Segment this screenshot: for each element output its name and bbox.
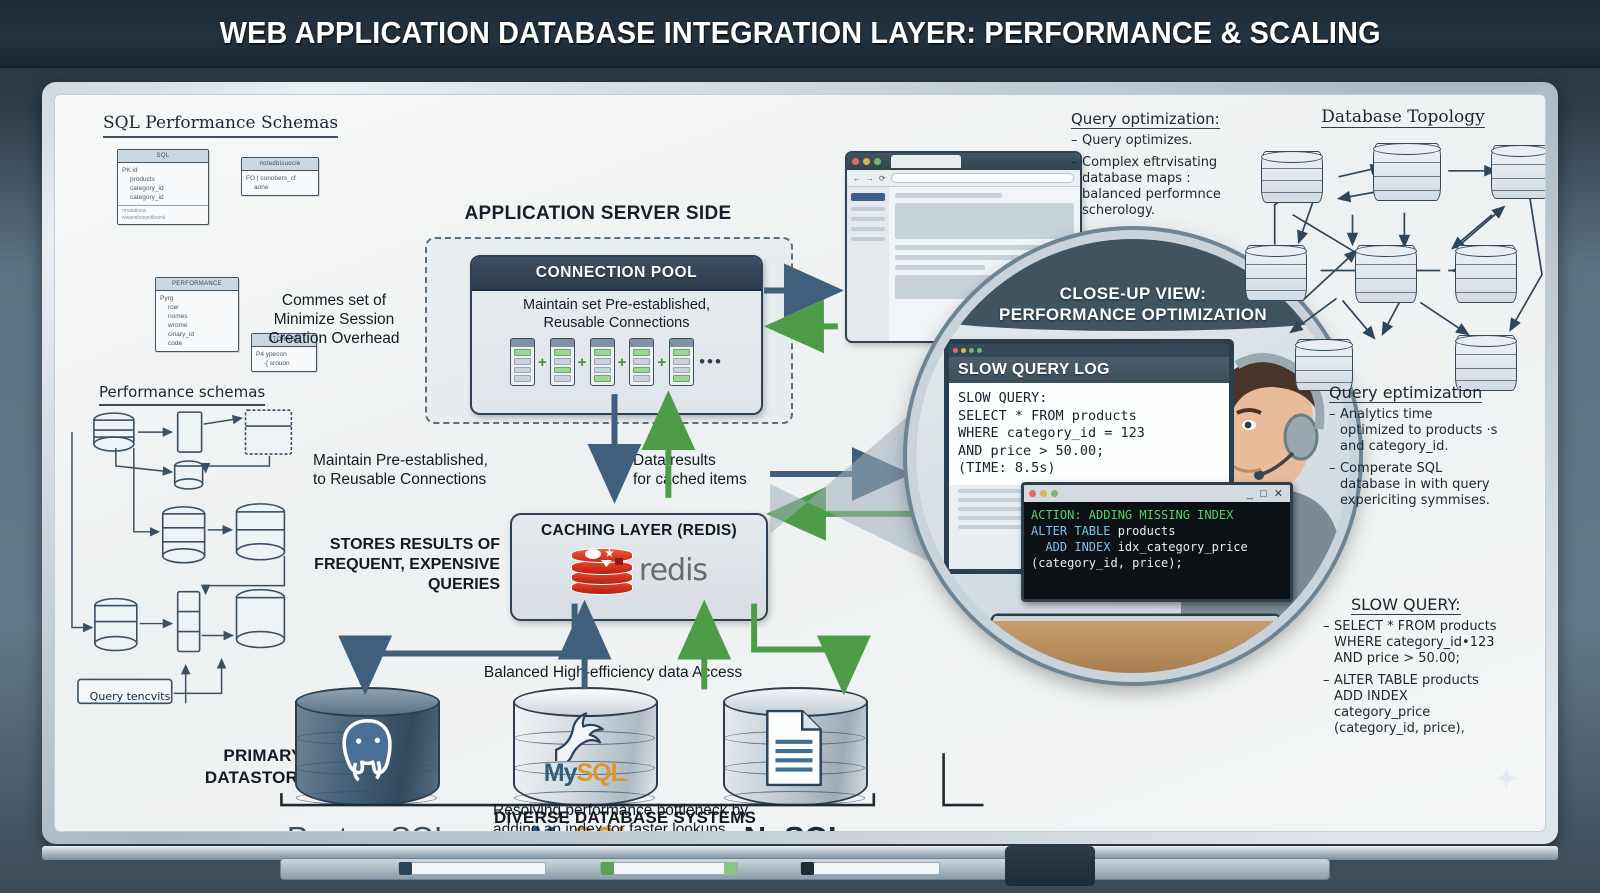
note-list: SELECT * FROM products WHERE category_id… bbox=[1323, 619, 1503, 737]
connection-pool-card: CONNECTION POOL Maintain set Pre-establi… bbox=[470, 255, 763, 415]
er-table-header: notedbisuocie bbox=[242, 158, 318, 171]
marker-green[interactable] bbox=[600, 862, 738, 875]
desk-surface bbox=[916, 621, 1350, 673]
plus-icon: + bbox=[538, 354, 547, 371]
close-icon[interactable] bbox=[852, 158, 859, 165]
maximize-icon[interactable] bbox=[1051, 490, 1058, 497]
note-slow-query: SLOW QUERY: SELECT * FROM products WHERE… bbox=[1323, 595, 1503, 743]
note-heading: Query optimization: bbox=[1071, 110, 1220, 129]
datastore-postgresql: PostgreSQL bbox=[287, 687, 447, 832]
connection-pool-title: CONNECTION POOL bbox=[472, 257, 761, 291]
browser-tab[interactable] bbox=[891, 155, 961, 168]
redis-logo-row: redis bbox=[512, 544, 766, 596]
terminal-keyword: ALTER TABLE bbox=[1031, 524, 1110, 538]
connection-node bbox=[550, 338, 575, 386]
reload-icon[interactable]: ⟳ bbox=[879, 174, 886, 183]
balanced-access-label: Balanced High-efficiency data Access bbox=[433, 663, 793, 682]
log-line: (TIME: 8.5s) bbox=[958, 460, 1056, 476]
slow-query-log-body: SLOW QUERY: SELECT * FROM products WHERE… bbox=[949, 383, 1229, 485]
note-item: Comperate SQL database in with query exp… bbox=[1329, 461, 1499, 509]
connection-node bbox=[629, 338, 654, 386]
window-controls[interactable]: _ □ ✕ bbox=[1247, 487, 1285, 500]
sidebar-item[interactable] bbox=[851, 207, 885, 211]
connection-pool-description: Maintain set Pre-established, Reusable C… bbox=[472, 291, 761, 332]
terminal-keyword: ADD INDEX bbox=[1045, 540, 1110, 554]
sparkle-icon: ✦ bbox=[1494, 762, 1519, 797]
browser-titlebar bbox=[847, 153, 1080, 170]
connection-node bbox=[669, 338, 694, 386]
connection-node bbox=[590, 338, 615, 386]
er-table-sql: SQL PK idproductscategory_idcategory_id … bbox=[117, 149, 209, 225]
stores-results-label: STORES RESULTS OF FREQUENT, EXPENSIVE QU… bbox=[265, 535, 500, 595]
marker-blue[interactable] bbox=[398, 862, 546, 875]
note-item: Complex eftrvisating database maps : bal… bbox=[1071, 155, 1231, 219]
er-table-body: P4 ypecon-[ srouon bbox=[252, 347, 316, 371]
minimize-icon[interactable] bbox=[1040, 490, 1047, 497]
whiteboard-frame: SQL Performance Schemas SQL PK idproduct… bbox=[42, 82, 1558, 844]
database-cylinder-icon: MySQL. bbox=[513, 687, 658, 817]
topology-heading: Database Topology bbox=[1321, 107, 1484, 128]
sidebar-active-item[interactable] bbox=[851, 193, 885, 201]
database-cylinder-icon bbox=[295, 687, 440, 817]
terminal-titlebar: _ □ ✕ bbox=[1024, 485, 1290, 502]
topology-node bbox=[1261, 151, 1323, 203]
er-table-performance: PERFORMANCE Pyrgrownomeswromecinary_idco… bbox=[155, 277, 239, 352]
sidebar-item[interactable] bbox=[851, 227, 885, 231]
connection-node-list: + + + + ••• bbox=[472, 338, 761, 386]
topology-heading-wrap: Database Topology bbox=[1273, 107, 1533, 132]
query-tenants-box: Query tencvits bbox=[83, 684, 177, 708]
topology-node bbox=[1355, 245, 1417, 303]
close-icon[interactable] bbox=[1029, 490, 1036, 497]
status-dot-icon bbox=[977, 348, 982, 353]
plus-icon: + bbox=[657, 354, 666, 371]
note-item: Query optimizes. bbox=[1071, 133, 1231, 149]
terminal-arg: idx_category_price bbox=[1110, 540, 1247, 554]
mysql-dolphin-icon bbox=[539, 705, 633, 761]
connection-node bbox=[510, 338, 535, 386]
monitor-titlebar bbox=[949, 344, 1229, 357]
minimize-icon[interactable] bbox=[863, 158, 870, 165]
note-query-optimization-mid: Query eptimization Analytics time optimi… bbox=[1329, 383, 1499, 515]
maintain-connections-label: Maintain Pre-established, to Reusable Co… bbox=[313, 451, 563, 489]
er-table-footer: rmutationawwarwfoteyctibamk bbox=[118, 205, 208, 224]
caching-layer-card: CACHING LAYER (REDIS) redis bbox=[510, 513, 768, 621]
er-table-body: Pyrgrownomeswromecinary_idcode bbox=[156, 291, 238, 351]
note-item: SELECT * FROM products WHERE category_id… bbox=[1323, 619, 1503, 667]
eraser[interactable] bbox=[1005, 846, 1095, 886]
caching-layer-title: CACHING LAYER (REDIS) bbox=[512, 515, 766, 540]
slow-query-log-title: SLOW QUERY LOG bbox=[949, 357, 1229, 383]
terminal-arg: products bbox=[1110, 524, 1175, 538]
sidebar-item[interactable] bbox=[851, 217, 885, 221]
document-icon bbox=[763, 709, 825, 787]
note-heading: SLOW QUERY: bbox=[1351, 595, 1461, 615]
topology-node bbox=[1455, 245, 1517, 303]
browser-navbar: ← → ⟳ bbox=[847, 170, 1080, 187]
application-server-heading: APPLICATION SERVER SIDE bbox=[448, 203, 748, 225]
maximize-icon[interactable] bbox=[969, 348, 974, 353]
sql-schemas-heading: SQL Performance Schemas bbox=[103, 113, 338, 138]
note-query-optimization-top: Query optimization: Query optimizes. Com… bbox=[1071, 109, 1231, 225]
note-list: Analytics time optimized to products ·s … bbox=[1329, 407, 1499, 509]
maximize-icon[interactable] bbox=[874, 158, 881, 165]
session-overhead-note: Commes set of Minimize Session Creation … bbox=[258, 291, 410, 348]
marker-dark[interactable] bbox=[800, 862, 940, 875]
note-list: Query optimizes. Complex eftrvisating da… bbox=[1071, 133, 1231, 219]
postgresql-elephant-icon bbox=[323, 713, 413, 791]
er-table-body: FO | conobers_cfaone bbox=[242, 171, 318, 195]
log-line: WHERE category_id = 123 bbox=[958, 425, 1145, 441]
plus-icon: + bbox=[578, 354, 587, 371]
performance-schemas-heading: Performance schemas bbox=[99, 383, 265, 406]
page-title: WEB APPLICATION DATABASE INTEGRATION LAY… bbox=[219, 15, 1380, 51]
log-line: SELECT * FROM products bbox=[958, 408, 1137, 424]
address-bar[interactable] bbox=[891, 173, 1074, 183]
redis-wordmark: redis bbox=[639, 553, 707, 588]
back-icon[interactable]: ← bbox=[853, 174, 861, 183]
note-item: Analytics time optimized to products ·s … bbox=[1329, 407, 1499, 455]
terminal-action-line: ACTION: ADDING MISSING INDEX bbox=[1031, 508, 1233, 522]
ellipsis-icon: ••• bbox=[699, 352, 723, 372]
redis-logo-icon bbox=[571, 544, 633, 596]
database-cylinder-icon bbox=[723, 687, 868, 817]
note-item: ALTER TABLE products ADD INDEX category_… bbox=[1323, 673, 1503, 737]
minimize-icon[interactable] bbox=[961, 348, 966, 353]
cached-results-label: Data results for cached items bbox=[633, 451, 803, 489]
er-table-header: SQL bbox=[118, 150, 208, 163]
datastore-name: PostgreSQL bbox=[287, 820, 447, 832]
title-bar: WEB APPLICATION DATABASE INTEGRATION LAY… bbox=[0, 0, 1600, 68]
er-table-notedbisuocie: notedbisuocie FO | conobers_cfaone bbox=[241, 157, 319, 196]
browser-sidebar bbox=[847, 187, 889, 343]
close-icon[interactable] bbox=[953, 348, 958, 353]
topology-node bbox=[1491, 145, 1546, 199]
forward-icon[interactable]: → bbox=[866, 174, 874, 183]
terminal-code: ACTION: ADDING MISSING INDEX ALTER TABLE… bbox=[1024, 502, 1290, 576]
resolving-bottleneck-caption: Resolving performance bottleneck by addi… bbox=[493, 801, 853, 832]
er-table-body: PK idproductscategory_idcategory_id bbox=[118, 163, 208, 205]
log-line: SLOW QUERY: bbox=[958, 390, 1047, 406]
whiteboard-surface: SQL Performance Schemas SQL PK idproduct… bbox=[54, 94, 1546, 832]
plus-icon: + bbox=[618, 354, 627, 371]
topology-node bbox=[1373, 143, 1441, 201]
topology-node bbox=[1245, 245, 1307, 301]
infographic-root: WEB APPLICATION DATABASE INTEGRATION LAY… bbox=[0, 0, 1600, 893]
note-heading: Query eptimization bbox=[1329, 383, 1482, 403]
terminal-window: _ □ ✕ ACTION: ADDING MISSING INDEX ALTER… bbox=[1021, 482, 1293, 602]
terminal-columns: (category_id, price); bbox=[1031, 556, 1183, 570]
sidebar-item[interactable] bbox=[851, 237, 885, 241]
log-line: AND price > 50.00; bbox=[958, 443, 1104, 459]
er-table-header: PERFORMANCE bbox=[156, 278, 238, 291]
